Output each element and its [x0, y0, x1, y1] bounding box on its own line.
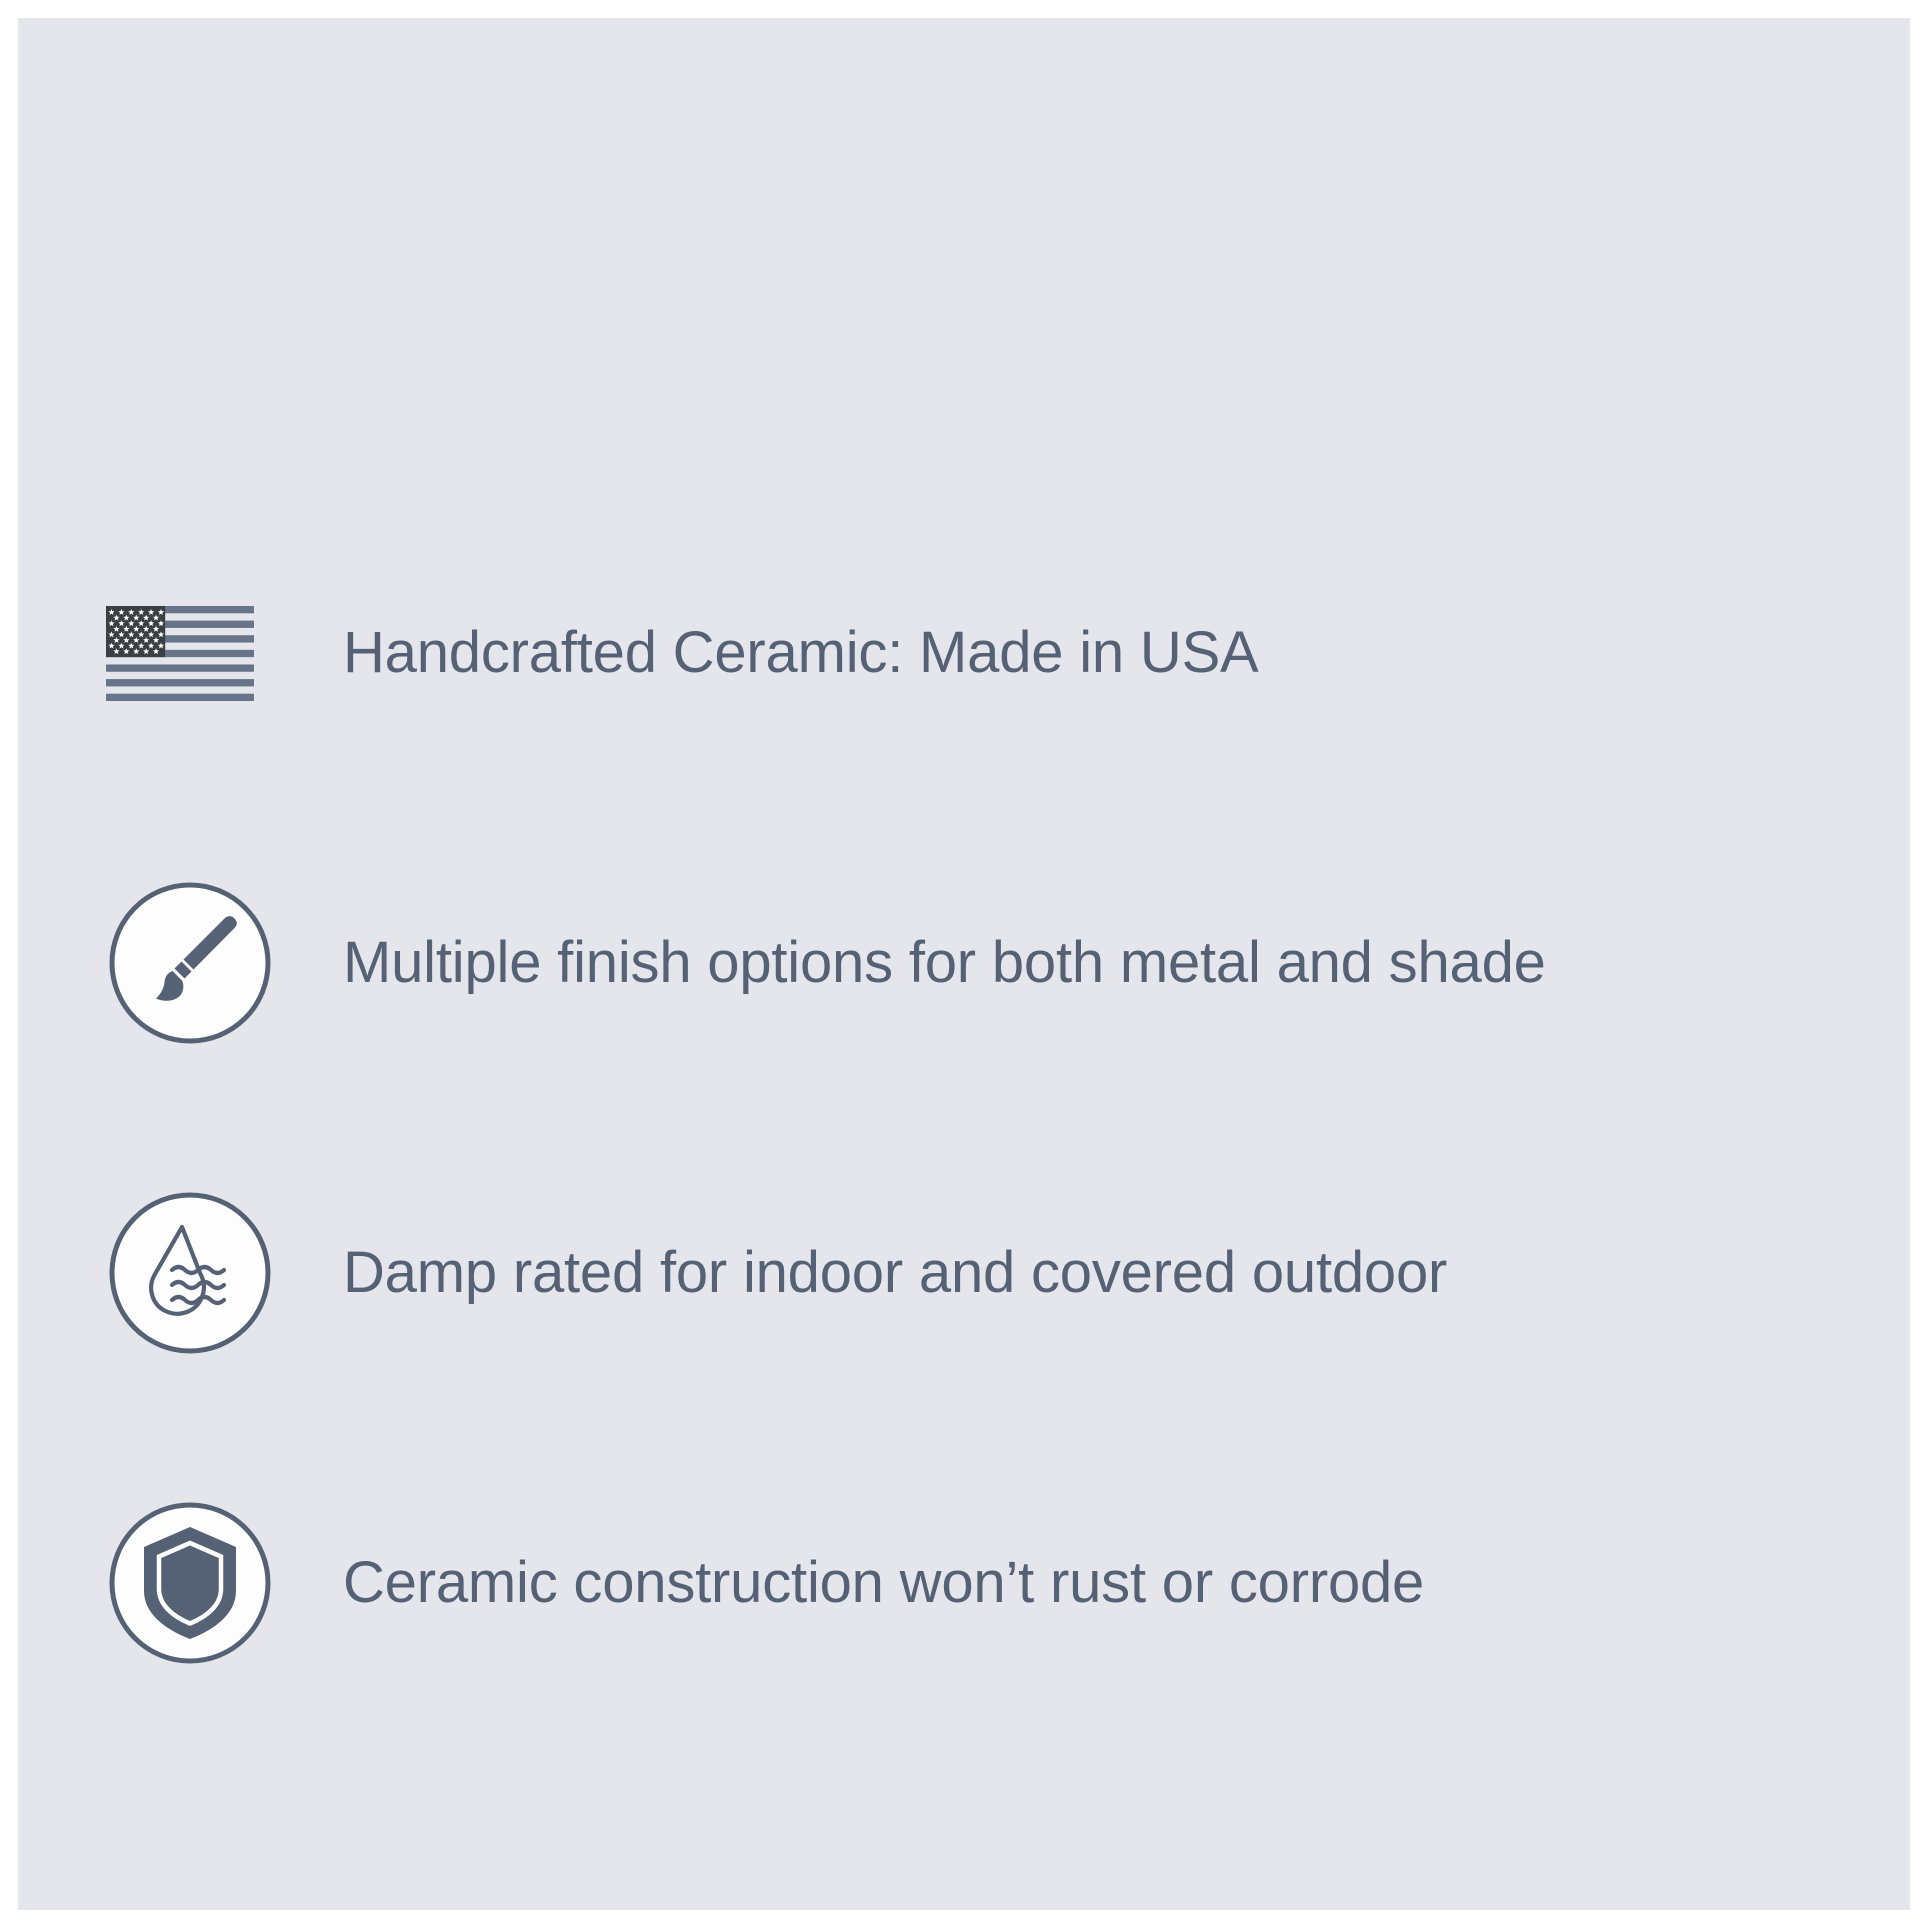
feature-label: Multiple finish options for both metal a…	[288, 931, 1546, 996]
feature-row: Handcrafted Ceramic: Made in USA	[88, 498, 1888, 808]
feature-label: Ceramic construction won’t rust or corro…	[288, 1551, 1424, 1616]
feature-icon-slot	[88, 1493, 288, 1673]
feature-icon-slot	[88, 1183, 288, 1363]
feature-label: Handcrafted Ceramic: Made in USA	[288, 621, 1259, 686]
feature-label: Damp rated for indoor and covered outdoo…	[288, 1241, 1447, 1306]
paintbrush-icon	[106, 879, 274, 1047]
feature-row: Ceramic construction won’t rust or corro…	[88, 1428, 1888, 1738]
feature-icon-slot	[88, 563, 288, 743]
feature-icon-slot	[88, 873, 288, 1053]
usa-flag-icon	[106, 606, 254, 701]
water-drop-waves-icon	[106, 1189, 274, 1357]
feature-panel: Handcrafted Ceramic: Made in USA	[18, 18, 1910, 1910]
shield-icon	[106, 1499, 274, 1667]
feature-row: Multiple finish options for both metal a…	[88, 808, 1888, 1118]
feature-row: Damp rated for indoor and covered outdoo…	[88, 1118, 1888, 1428]
feature-list: Handcrafted Ceramic: Made in USA	[88, 498, 1888, 1738]
